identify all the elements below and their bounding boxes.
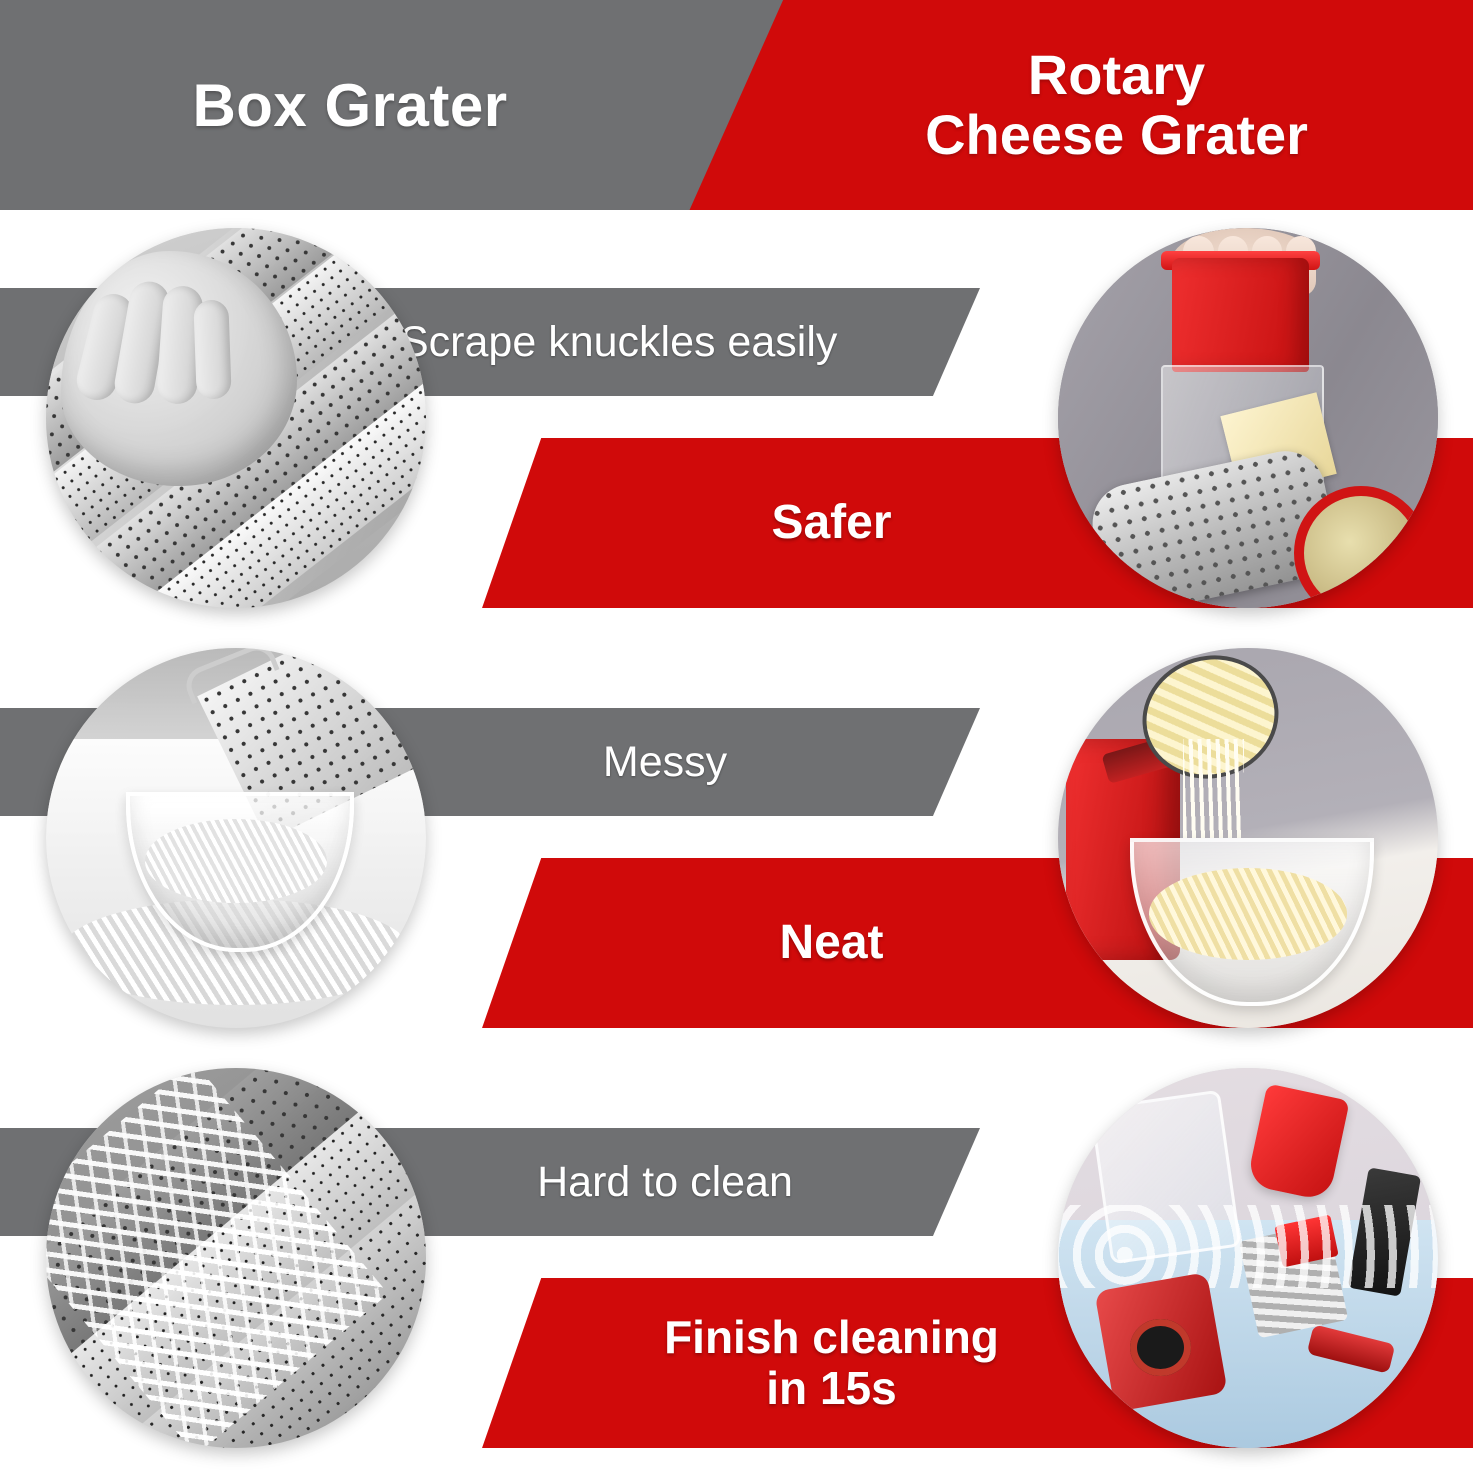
row-2-red-banner-label: Neat: [779, 917, 883, 970]
row-2-gray-banner-label: Messy: [400, 738, 930, 787]
row-3-red-banner-label-line1: Finish cleaning: [664, 1311, 999, 1363]
header-right-title: Rotary Cheese Grater: [760, 0, 1473, 210]
row-1-left-image: [46, 228, 426, 608]
row-1-gray-banner-label: Scrape knuckles easily: [400, 318, 930, 367]
rotary-grater-cheese-illustration: [1058, 228, 1438, 608]
row-2-right-image: [1058, 648, 1438, 1028]
messy-cheese-bowl-illustration: [46, 648, 426, 1028]
row-1-right-image: [1058, 228, 1438, 608]
neat-cheese-bowl-illustration: [1058, 648, 1438, 1028]
comparison-row-1: Scrape knuckles easily Safer: [0, 210, 1473, 630]
row-3-red-banner-label-line2: in 15s: [766, 1362, 896, 1414]
row-3-right-image: [1058, 1068, 1438, 1448]
comparison-row-3: Hard to clean Finish cleaning in 15s: [0, 1050, 1473, 1470]
clogged-grater-illustration: [46, 1068, 426, 1448]
row-3-red-banner-label: Finish cleaning in 15s: [664, 1312, 999, 1413]
washable-parts-illustration: [1058, 1068, 1438, 1448]
header-right-title-line1: Rotary: [1028, 45, 1205, 105]
header-banner: Box Grater Rotary Cheese Grater: [0, 0, 1473, 210]
row-2-left-image: [46, 648, 426, 1028]
row-3-gray-banner-label: Hard to clean: [400, 1158, 930, 1207]
row-3-left-image: [46, 1068, 426, 1448]
comparison-infographic: Box Grater Rotary Cheese Grater Scrape k…: [0, 0, 1473, 1473]
header-right-title-line2: Cheese Grater: [925, 105, 1308, 165]
row-1-red-banner-label: Safer: [771, 497, 891, 550]
header-left-title: Box Grater: [0, 0, 700, 210]
comparison-row-2: Messy Neat: [0, 630, 1473, 1050]
box-grater-knuckles-illustration: [46, 228, 426, 608]
